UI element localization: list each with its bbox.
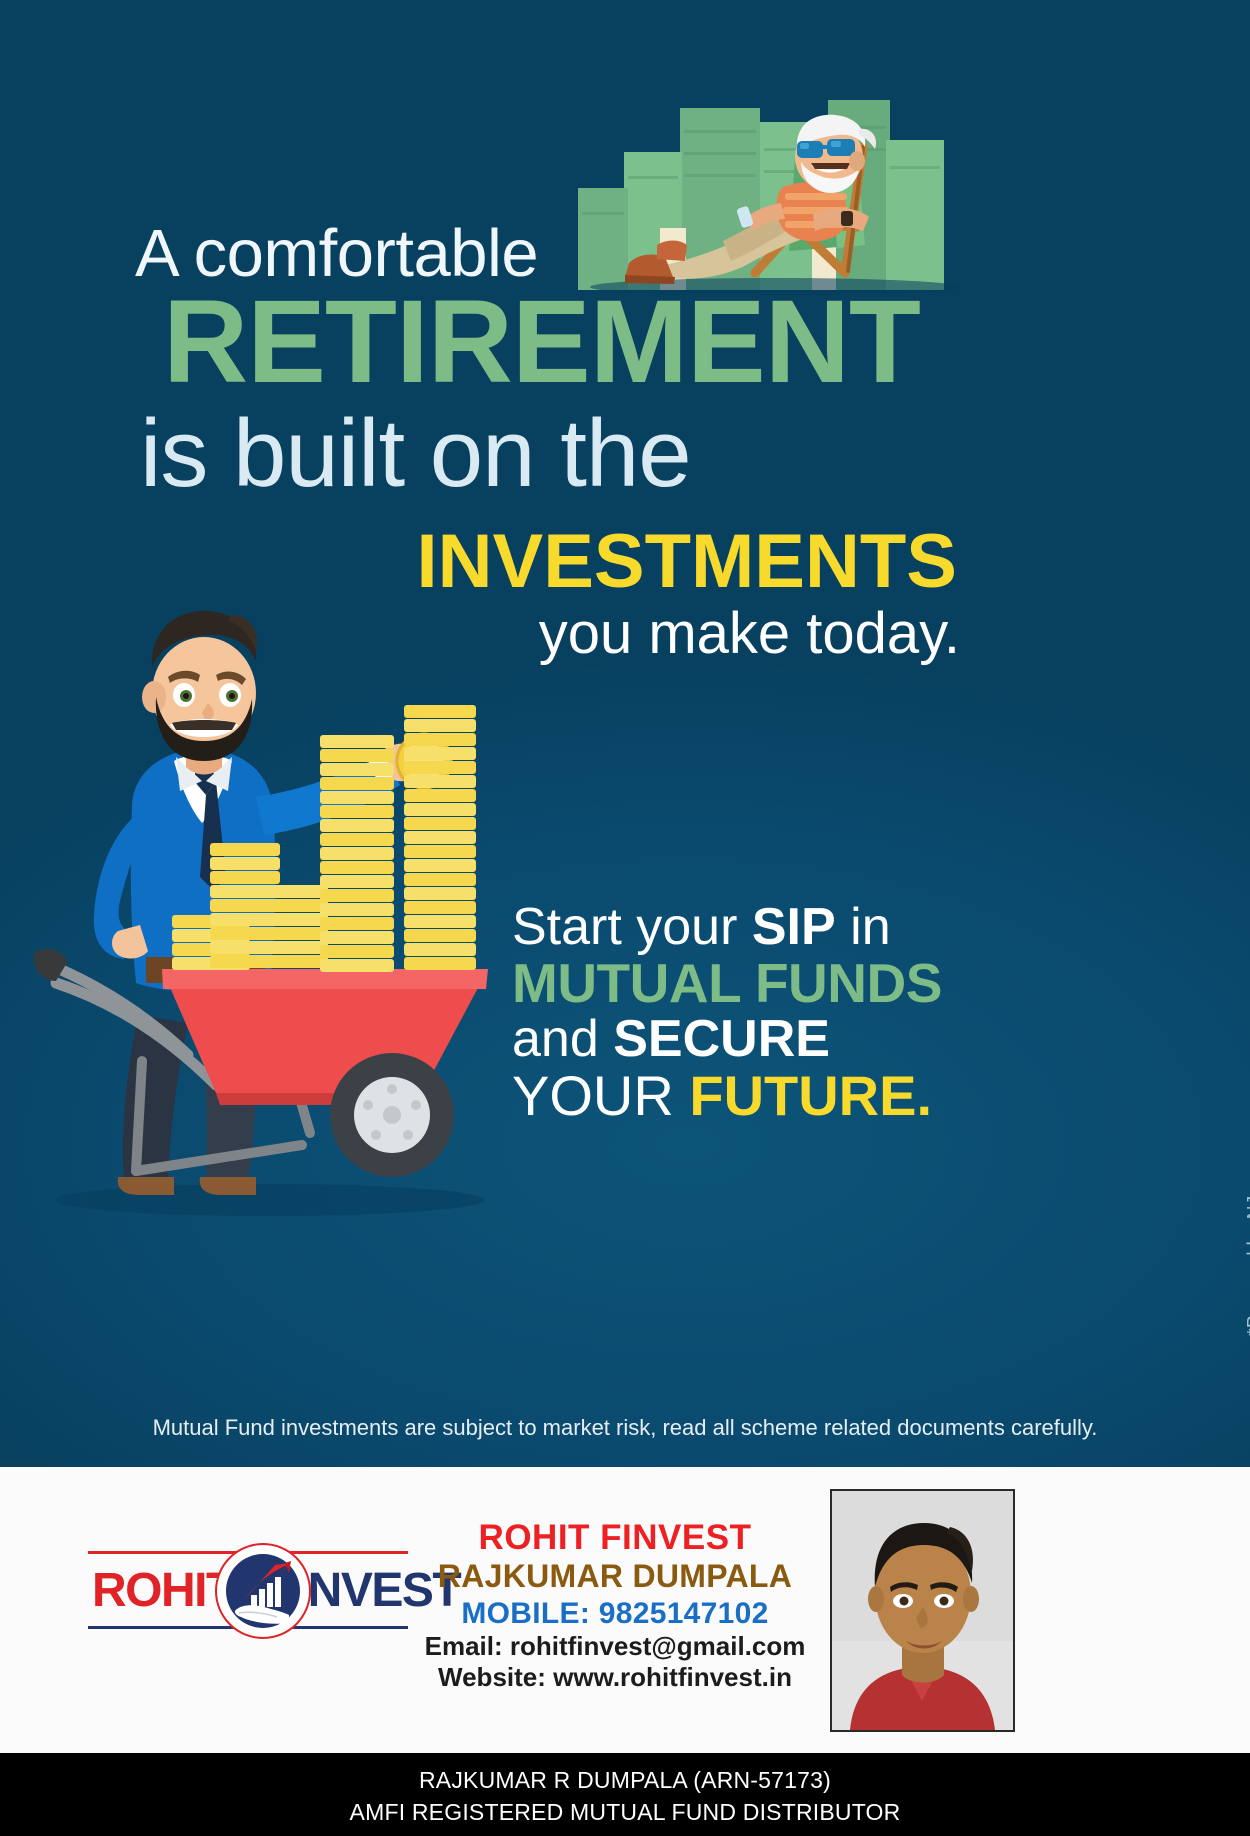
cta-line-3-part-a: and	[512, 1010, 613, 1068]
headline-line-3: is built on the	[0, 406, 1250, 502]
contact-mobile[interactable]: MOBILE: 9825147102	[420, 1596, 810, 1631]
registration-bar: RAJKUMAR R DUMPALA (ARN-57173) AMFI REGI…	[0, 1753, 1250, 1836]
contact-email[interactable]: Email: rohitfinvest@gmail.com	[420, 1631, 810, 1662]
cta-future-label: FUTURE.	[689, 1064, 932, 1127]
logo-word-rohit: ROHIT	[92, 1563, 234, 1618]
registration-line-1: RAJKUMAR R DUMPALA (ARN-57173)	[0, 1765, 1250, 1797]
businessman-wheelbarrow-illustration	[20, 585, 520, 1225]
footer-contact-band: ROHIT FINVEST R	[0, 1467, 1250, 1753]
hero-section: A comfortable RETIREMENT is built on the…	[0, 0, 1250, 1467]
headline-line-2: RETIREMENT	[0, 283, 1250, 401]
portrait-illustration	[832, 1491, 1013, 1730]
rohit-finvest-logo: ROHIT FINVEST	[78, 1529, 408, 1649]
cta-line-1-part-a: Start your	[512, 898, 752, 956]
cta-line-2: MUTUAL FUNDS	[512, 955, 1042, 1013]
cta-line-4-part-a: YOUR	[512, 1064, 689, 1127]
contact-company-name: ROHIT FINVEST	[420, 1517, 810, 1558]
cta-text-block: Start your SIP in MUTUAL FUNDS and SECUR…	[512, 900, 1042, 1126]
market-risk-disclaimer: Mutual Fund investments are subject to m…	[0, 1415, 1250, 1441]
contact-details-block: ROHIT FINVEST RAJKUMAR DUMPALA MOBILE: 9…	[420, 1517, 810, 1693]
hand-holding-growth-chart-emblem	[215, 1543, 311, 1639]
powered-by-label: *Powered by NJ	[1244, 1195, 1250, 1335]
agent-portrait-photo	[830, 1489, 1015, 1732]
cta-line-1: Start your SIP in	[512, 900, 1042, 955]
cta-secure-label: SECURE	[613, 1010, 830, 1068]
cta-line-1-part-c: in	[836, 898, 891, 956]
poster-root: A comfortable RETIREMENT is built on the…	[0, 0, 1250, 1836]
cta-line-4: YOUR FUTURE.	[512, 1067, 1042, 1126]
cta-sip-label: SIP	[752, 898, 836, 956]
contact-website[interactable]: Website: www.rohitfinvest.in	[420, 1662, 810, 1693]
registration-line-2: AMFI REGISTERED MUTUAL FUND DISTRIBUTOR	[0, 1797, 1250, 1829]
contact-agent-name: RAJKUMAR DUMPALA	[420, 1558, 810, 1596]
cta-line-3: and SECURE	[512, 1012, 1042, 1067]
